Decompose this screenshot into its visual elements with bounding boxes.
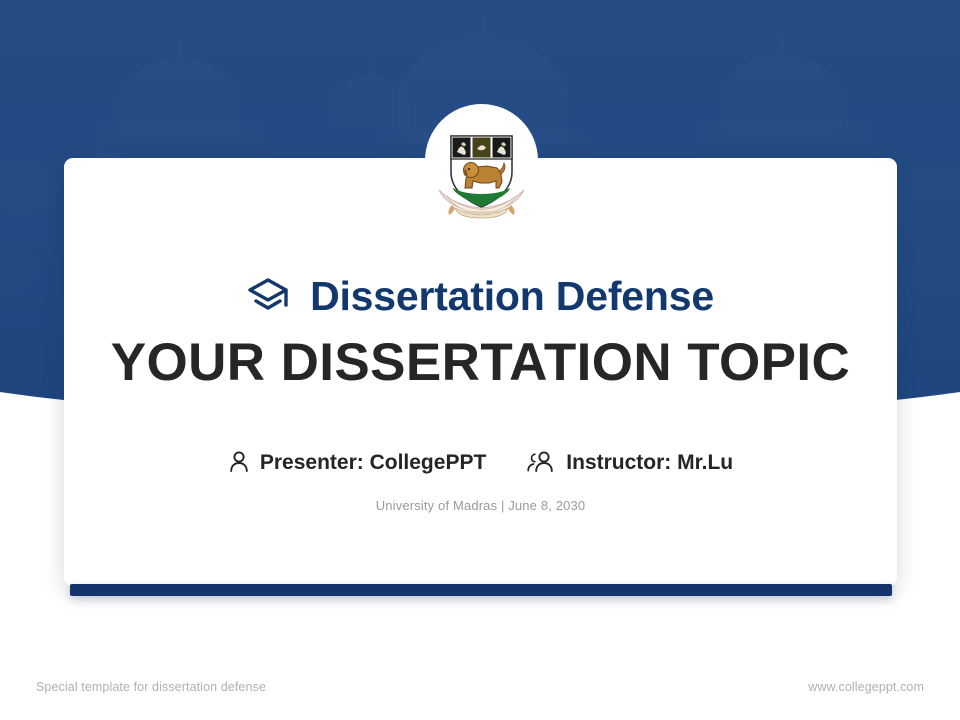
- eyebrow-label: Dissertation Defense: [310, 276, 714, 317]
- eyebrow-row: Dissertation Defense: [64, 270, 897, 322]
- credits-row: Presenter: CollegePPT Instructor: Mr.Lu: [64, 450, 897, 474]
- university-crest-icon: [425, 104, 538, 222]
- presenter-label: Presenter: CollegePPT: [260, 452, 486, 473]
- instructor-item: Instructor: Mr.Lu: [526, 450, 733, 474]
- headline-block: Dissertation Defense YOUR DISSERTATION T…: [64, 270, 897, 391]
- person-icon: [228, 450, 250, 474]
- footer-website[interactable]: www.collegeppt.com: [808, 680, 924, 694]
- footer-note: Special template for dissertation defens…: [36, 680, 266, 694]
- slide-footer: Special template for dissertation defens…: [0, 680, 960, 694]
- university-crest: [425, 104, 538, 222]
- card-accent-bar: [70, 584, 892, 596]
- presentation-slide: Dissertation Defense YOUR DISSERTATION T…: [0, 0, 960, 720]
- page-title: YOUR DISSERTATION TOPIC: [64, 335, 897, 391]
- graduation-cap-icon: [247, 276, 293, 316]
- instructor-label: Instructor: Mr.Lu: [566, 452, 733, 473]
- university-date-line: University of Madras | June 8, 2030: [64, 498, 897, 513]
- presenter-item: Presenter: CollegePPT: [228, 450, 486, 474]
- people-icon: [526, 450, 556, 474]
